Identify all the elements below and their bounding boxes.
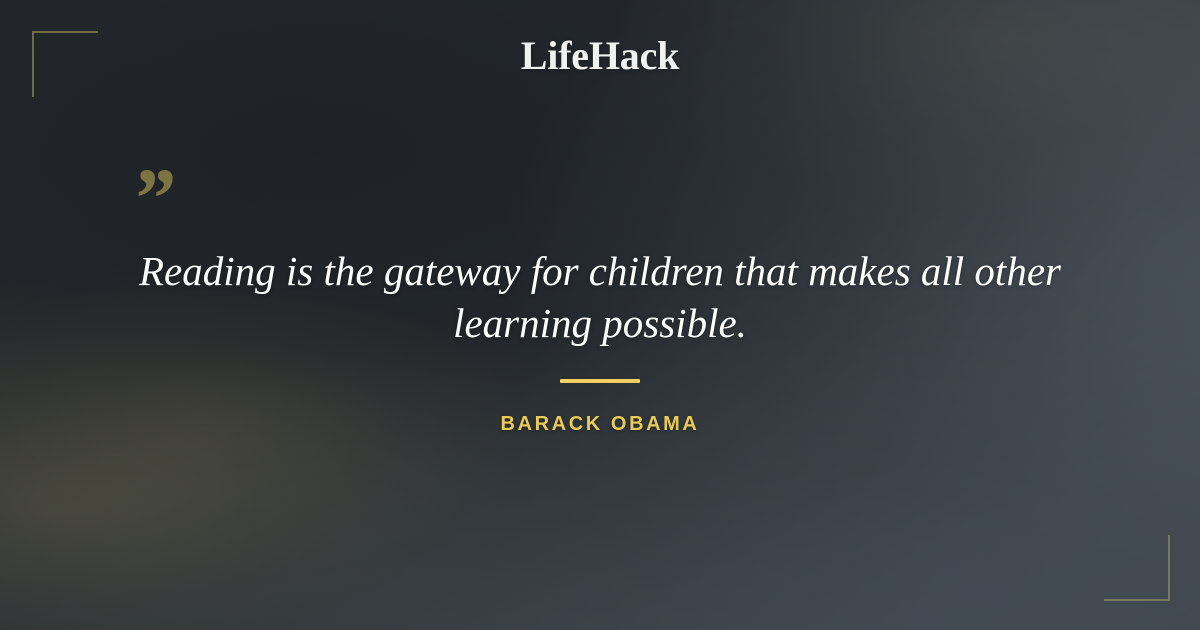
brand-logo: LifeHack	[0, 36, 1200, 76]
quote-text: Reading is the gateway for children that…	[120, 245, 1080, 349]
corner-bracket-bottom-right-icon	[1104, 535, 1170, 601]
quote-graphic-card: LifeHack ” Reading is the gateway for ch…	[0, 0, 1200, 630]
divider-container	[0, 379, 1200, 383]
quotation-mark-icon: ”	[131, 155, 172, 241]
gold-divider	[560, 379, 640, 383]
quote-attribution: BARACK OBAMA	[0, 413, 1200, 436]
